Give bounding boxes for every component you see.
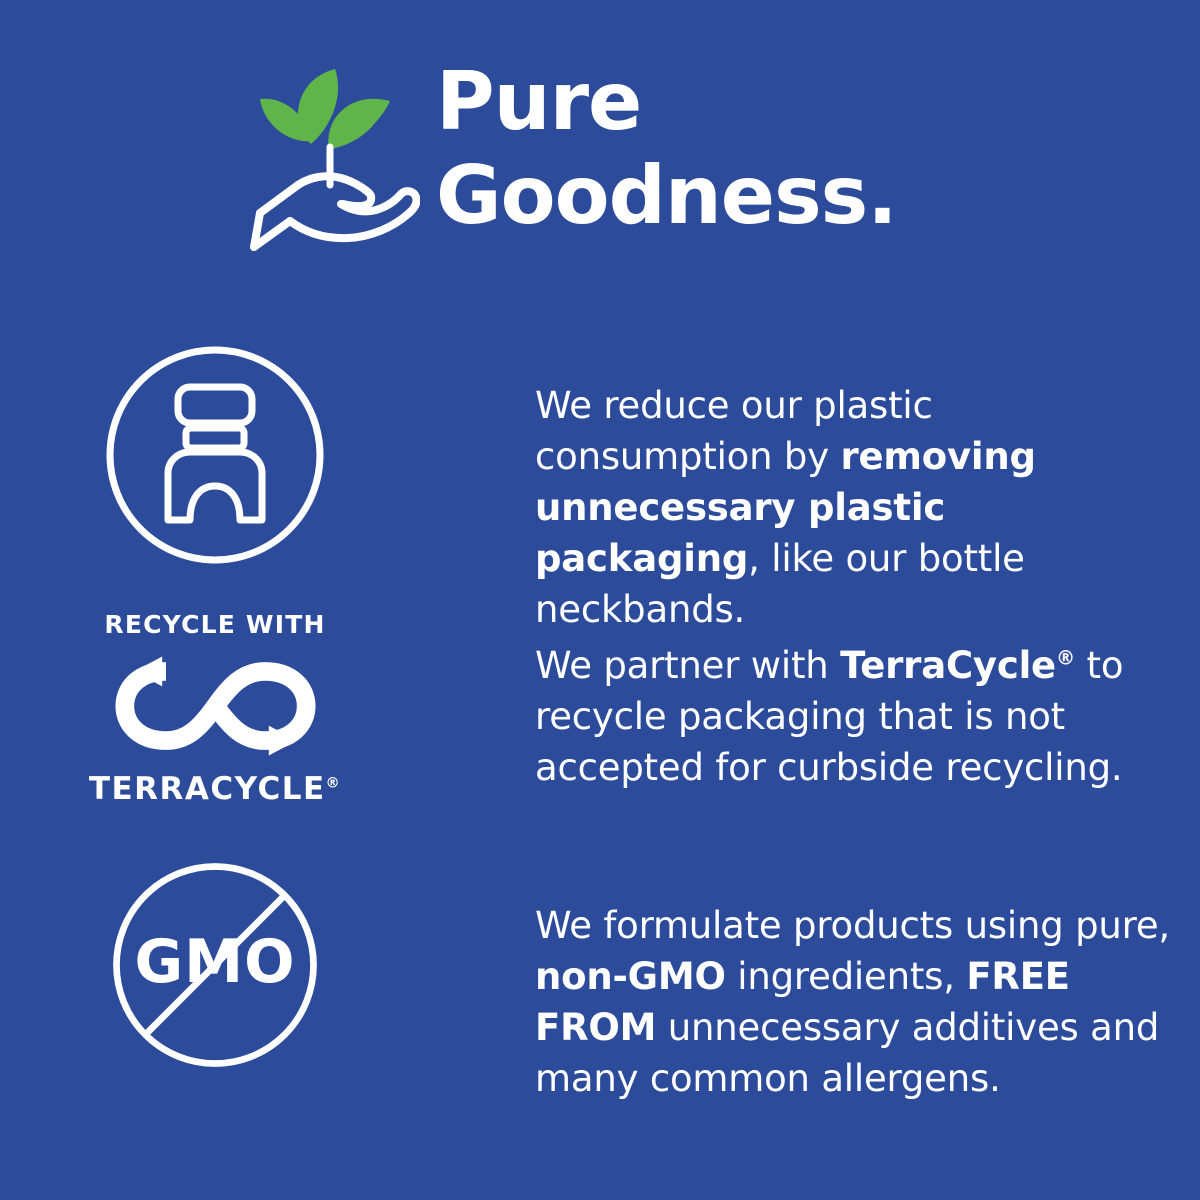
registered-mark: ® <box>326 776 342 792</box>
svg-text:GMO: GMO <box>135 927 296 996</box>
feature-row-plastic-text: We reduce our plastic consumption by rem… <box>535 380 1180 635</box>
header: Pure Goodness. <box>240 55 897 251</box>
text-part-bold: non-GMO <box>535 955 726 998</box>
hand-holding-sprout-icon <box>240 61 420 251</box>
text-part: We formulate products using pure, <box>535 904 1170 947</box>
feature-row-terracycle-text: We partner with TerraCycle® to recycle p… <box>535 640 1180 793</box>
terracycle-label-bottom: TERRACYCLE® <box>89 771 341 807</box>
text-part: ingredients, <box>726 955 967 998</box>
terracycle-label-top: RECYCLE WITH <box>104 610 325 639</box>
feature-row-nongmo-text: We formulate products using pure, non-GM… <box>535 900 1180 1104</box>
bottle-in-circle-icon <box>100 340 330 570</box>
registered-mark: ® <box>1056 647 1075 670</box>
no-gmo-icon: GMO <box>100 855 330 1075</box>
text-part-bold: TerraCycle <box>840 644 1056 687</box>
terracycle-wordmark: TERRACYCLE <box>89 771 326 807</box>
page-title: Pure Goodness. <box>436 55 897 244</box>
feature-row-nongmo: GMO We formulate products using pure, no… <box>100 855 1180 1104</box>
feature-row-terracycle: RECYCLE WITH TERRACYCLE® We partner with… <box>100 610 1180 807</box>
text-part: We partner with <box>535 644 840 687</box>
pure-goodness-panel: Pure Goodness. We reduce our plastic con… <box>0 0 1200 1200</box>
terracycle-logo-icon: RECYCLE WITH TERRACYCLE® <box>100 610 330 807</box>
feature-row-plastic: We reduce our plastic consumption by rem… <box>100 340 1180 635</box>
